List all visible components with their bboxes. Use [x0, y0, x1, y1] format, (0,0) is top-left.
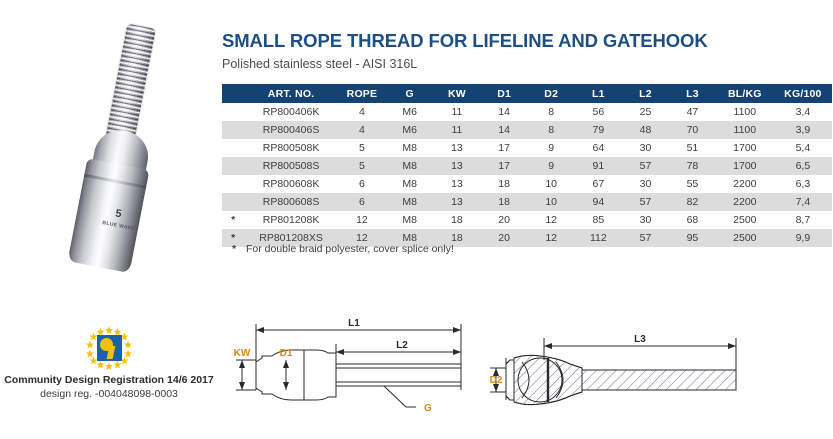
- cell-bl-kg: 2200: [716, 175, 774, 193]
- product-photo: 5 BLUE WAVE: [46, 18, 196, 268]
- footnote-marker: *: [222, 243, 246, 255]
- table-header-row: ART. NO. ROPE G KW D1 D2 L1 L2 L3 BL/KG …: [222, 84, 832, 103]
- column-header-l2: L2: [622, 84, 669, 103]
- cell-l1: 94: [575, 193, 622, 211]
- cell-kg-100: 3,4: [774, 103, 832, 121]
- cell-art-no: RP800406K: [244, 103, 337, 121]
- column-header-flag: [222, 84, 244, 103]
- column-header-art-no: ART. NO.: [244, 84, 337, 103]
- cell-rope: 12: [338, 211, 386, 229]
- cell-l1: 67: [575, 175, 622, 193]
- drawing-left-svg: L1 L2 KW D1 G: [224, 312, 476, 434]
- community-design-badge: Community Design Registration 14/6 2017 …: [0, 326, 218, 401]
- cell-l2: 30: [622, 139, 669, 157]
- cell-l2: 30: [622, 211, 669, 229]
- cell-l2: 57: [622, 157, 669, 175]
- cell-rope: 5: [338, 157, 386, 175]
- table-body: RP800406K 4 M6 11 14 8 56 25 47 1100 3,4…: [222, 103, 832, 247]
- dim-label-l3: L3: [634, 334, 646, 345]
- cell-l2: 48: [622, 121, 669, 139]
- eu-community-design-logo-icon: [83, 326, 135, 370]
- cell-g: M8: [386, 211, 433, 229]
- cell-l2: 57: [622, 193, 669, 211]
- cell-kw: 18: [433, 211, 480, 229]
- cell-bl-kg: 1100: [716, 103, 774, 121]
- cell-bl-kg: 2500: [716, 229, 774, 247]
- threaded-shaft: [104, 23, 156, 148]
- column-header-bl-kg: BL/KG: [716, 84, 774, 103]
- cell-l3: 70: [669, 121, 716, 139]
- dim-label-g: G: [424, 403, 432, 414]
- table-row: RP800508S 5 M8 13 17 9 91 57 78 1700 6,5: [222, 157, 832, 175]
- dim-label-d1: D1: [280, 348, 293, 359]
- cell-l3: 82: [669, 193, 716, 211]
- cell-flag: [222, 175, 244, 193]
- cell-d1: 14: [481, 103, 528, 121]
- cell-flag: [222, 193, 244, 211]
- cell-d2: 8: [528, 103, 575, 121]
- table-row: RP800608S 6 M8 13 18 10 94 57 82 2200 7,…: [222, 193, 832, 211]
- table-footnote: *For double braid polyester, cover splic…: [222, 243, 722, 255]
- page-title: SMALL ROPE THREAD FOR LIFELINE AND GATEH…: [222, 30, 822, 52]
- cell-art-no: RP800406S: [244, 121, 337, 139]
- cell-kw: 13: [433, 193, 480, 211]
- table-row: * RP801208K 12 M8 18 20 12 85 30 68 2500…: [222, 211, 832, 229]
- cell-art-no: RP800508K: [244, 139, 337, 157]
- dim-label-kw: KW: [234, 348, 251, 359]
- column-header-d2: D2: [528, 84, 575, 103]
- cell-l3: 47: [669, 103, 716, 121]
- cell-g: M6: [386, 121, 433, 139]
- cell-l1: 79: [575, 121, 622, 139]
- cell-rope: 4: [338, 121, 386, 139]
- cell-l1: 56: [575, 103, 622, 121]
- cell-l3: 55: [669, 175, 716, 193]
- cell-d2: 9: [528, 157, 575, 175]
- column-header-kw: KW: [433, 84, 480, 103]
- cell-kg-100: 8,7: [774, 211, 832, 229]
- cell-kg-100: 9,9: [774, 229, 832, 247]
- cell-kw: 11: [433, 121, 480, 139]
- specification-table: ART. NO. ROPE G KW D1 D2 L1 L2 L3 BL/KG …: [222, 84, 832, 247]
- technical-drawing-outline: L1 L2 KW D1 G: [224, 312, 476, 434]
- technical-drawing-section: L3 D2: [478, 330, 768, 434]
- cell-l2: 25: [622, 103, 669, 121]
- cell-d2: 10: [528, 193, 575, 211]
- cell-d2: 9: [528, 139, 575, 157]
- cell-flag: [222, 121, 244, 139]
- cell-l1: 91: [575, 157, 622, 175]
- cell-bl-kg: 2500: [716, 211, 774, 229]
- cell-d1: 17: [481, 139, 528, 157]
- cell-bl-kg: 1700: [716, 139, 774, 157]
- dim-label-d2: D2: [490, 375, 503, 386]
- cell-kw: 13: [433, 157, 480, 175]
- design-registration-number: design reg. -004048098-0003: [0, 387, 218, 401]
- cell-flag: *: [222, 211, 244, 229]
- cell-g: M8: [386, 193, 433, 211]
- dim-label-l1: L1: [348, 318, 360, 329]
- cell-flag: [222, 139, 244, 157]
- cell-d1: 18: [481, 193, 528, 211]
- cell-d1: 20: [481, 211, 528, 229]
- column-header-kg-100: KG/100: [774, 84, 832, 103]
- cell-rope: 5: [338, 139, 386, 157]
- page-subtitle: Polished stainless steel - AISI 316L: [222, 56, 822, 72]
- cell-kw: 11: [433, 103, 480, 121]
- cell-kg-100: 3,9: [774, 121, 832, 139]
- cell-g: M6: [386, 103, 433, 121]
- cell-art-no: RP800508S: [244, 157, 337, 175]
- cell-d2: 10: [528, 175, 575, 193]
- cell-g: M8: [386, 139, 433, 157]
- footnote-text: For double braid polyester, cover splice…: [246, 243, 454, 255]
- table-row: RP800508K 5 M8 13 17 9 64 30 51 1700 5,4: [222, 139, 832, 157]
- title-block: SMALL ROPE THREAD FOR LIFELINE AND GATEH…: [222, 30, 822, 72]
- cell-l2: 30: [622, 175, 669, 193]
- cell-l3: 51: [669, 139, 716, 157]
- dim-label-l2: L2: [396, 340, 408, 351]
- column-header-l1: L1: [575, 84, 622, 103]
- cell-art-no: RP800608S: [244, 193, 337, 211]
- cell-kw: 13: [433, 175, 480, 193]
- cell-rope: 4: [338, 103, 386, 121]
- cell-l3: 68: [669, 211, 716, 229]
- cell-l1: 64: [575, 139, 622, 157]
- cell-bl-kg: 2200: [716, 193, 774, 211]
- table-row: RP800406S 4 M6 11 14 8 79 48 70 1100 3,9: [222, 121, 832, 139]
- cell-bl-kg: 1700: [716, 157, 774, 175]
- drawing-right-svg: L3 D2: [478, 330, 768, 434]
- cell-g: M8: [386, 175, 433, 193]
- cell-l1: 85: [575, 211, 622, 229]
- table-header: ART. NO. ROPE G KW D1 D2 L1 L2 L3 BL/KG …: [222, 84, 832, 103]
- table-row: RP800608K 6 M8 13 18 10 67 30 55 2200 6,…: [222, 175, 832, 193]
- cell-d1: 17: [481, 157, 528, 175]
- cell-g: M8: [386, 157, 433, 175]
- column-header-g: G: [386, 84, 433, 103]
- cell-d1: 14: [481, 121, 528, 139]
- cell-d2: 8: [528, 121, 575, 139]
- cell-d1: 18: [481, 175, 528, 193]
- column-header-l3: L3: [669, 84, 716, 103]
- cell-d2: 12: [528, 211, 575, 229]
- cell-art-no: RP800608K: [244, 175, 337, 193]
- cell-rope: 6: [338, 175, 386, 193]
- table-row: RP800406K 4 M6 11 14 8 56 25 47 1100 3,4: [222, 103, 832, 121]
- cell-kg-100: 7,4: [774, 193, 832, 211]
- design-registration-title: Community Design Registration 14/6 2017: [0, 373, 218, 387]
- cell-art-no: RP801208K: [244, 211, 337, 229]
- cell-flag: [222, 103, 244, 121]
- cell-kg-100: 6,5: [774, 157, 832, 175]
- cell-kg-100: 5,4: [774, 139, 832, 157]
- column-header-d1: D1: [481, 84, 528, 103]
- column-header-rope: ROPE: [338, 84, 386, 103]
- cell-rope: 6: [338, 193, 386, 211]
- cell-flag: [222, 157, 244, 175]
- cell-kw: 13: [433, 139, 480, 157]
- cell-l3: 78: [669, 157, 716, 175]
- cell-kg-100: 6,3: [774, 175, 832, 193]
- cell-bl-kg: 1100: [716, 121, 774, 139]
